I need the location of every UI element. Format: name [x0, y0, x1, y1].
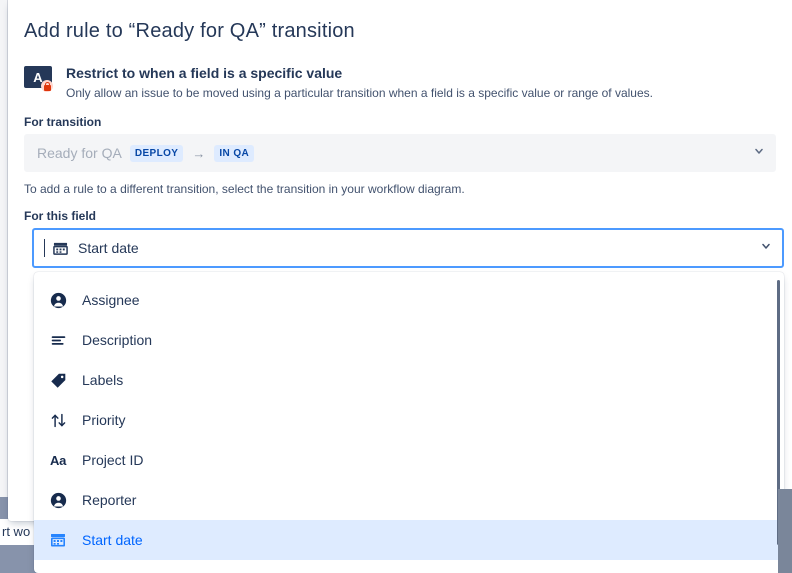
up-down-arrows-icon [50, 412, 67, 429]
window-scrollbar-track[interactable] [778, 0, 792, 573]
helper-text: To add a rule to a different transition,… [24, 182, 465, 196]
restrict-field-lock-icon: A [24, 66, 54, 92]
transition-select[interactable]: Ready for QA DEPLOY → IN QA [24, 134, 776, 172]
option-icon-wrapper [50, 412, 72, 429]
for-transition-label: For transition [24, 115, 101, 129]
option-icon-wrapper [50, 292, 72, 309]
dropdown-option-description[interactable]: Description [34, 320, 784, 360]
tag-icon [50, 372, 67, 389]
rule-description: Only allow an issue to be moved using a … [66, 85, 653, 101]
lock-icon [41, 80, 53, 92]
calendar-icon [53, 241, 68, 256]
person-circle-icon [50, 292, 67, 309]
rule-text-block: Restrict to when a field is a specific v… [66, 64, 653, 101]
text-aa-icon: Aa [50, 454, 66, 467]
window-scrollbar-thumb[interactable] [778, 489, 792, 573]
person-circle-icon [50, 492, 67, 509]
option-icon-wrapper [50, 332, 72, 349]
description-lines-icon [50, 332, 67, 349]
status-badge-from: DEPLOY [130, 145, 184, 162]
calendar-icon [50, 532, 66, 548]
page-title: Add rule to “Ready for QA” transition [24, 20, 355, 43]
option-icon-wrapper: Aa [50, 454, 72, 467]
dropdown-option-label: Start date [82, 532, 143, 548]
option-icon-wrapper [50, 492, 72, 509]
dropdown-option-assignee[interactable]: Assignee [34, 280, 784, 320]
dropdown-option-project-id[interactable]: AaProject ID [34, 440, 784, 480]
dropdown-option-list: AssigneeDescriptionLabelsPriorityAaProje… [34, 280, 784, 560]
dropdown-option-label: Reporter [82, 492, 136, 508]
rule-header: A Restrict to when a field is a specific… [24, 64, 724, 101]
dropdown-option-reporter[interactable]: Reporter [34, 480, 784, 520]
field-selected-value: Start date [78, 240, 139, 256]
dropdown-option-label: Project ID [82, 452, 143, 468]
chevron-down-icon[interactable] [760, 239, 772, 257]
chevron-down-icon[interactable] [753, 144, 765, 162]
field-options-dropdown: AssigneeDescriptionLabelsPriorityAaProje… [34, 272, 784, 573]
dropdown-option-start-date[interactable]: Start date [34, 520, 784, 560]
option-icon-wrapper [50, 532, 72, 548]
rule-title: Restrict to when a field is a specific v… [66, 64, 653, 82]
dropdown-option-priority[interactable]: Priority [34, 400, 784, 440]
for-this-field-label: For this field [24, 209, 96, 223]
dropdown-option-labels[interactable]: Labels [34, 360, 784, 400]
dropdown-option-label: Labels [82, 372, 123, 388]
transition-name: Ready for QA [37, 145, 122, 161]
option-icon-wrapper [50, 372, 72, 389]
text-caret [44, 239, 45, 257]
transition-arrow-icon: → [192, 147, 205, 160]
background-left-rail [0, 0, 8, 497]
dropdown-option-label: Assignee [82, 292, 140, 308]
status-badge-to: IN QA [214, 145, 254, 162]
background-text-fragment: rt wo [2, 524, 30, 539]
field-select-input[interactable]: Start date [32, 228, 784, 268]
dropdown-option-label: Priority [82, 412, 126, 428]
add-rule-modal: Add rule to “Ready for QA” transition A … [8, 0, 792, 521]
dropdown-option-label: Description [82, 332, 152, 348]
